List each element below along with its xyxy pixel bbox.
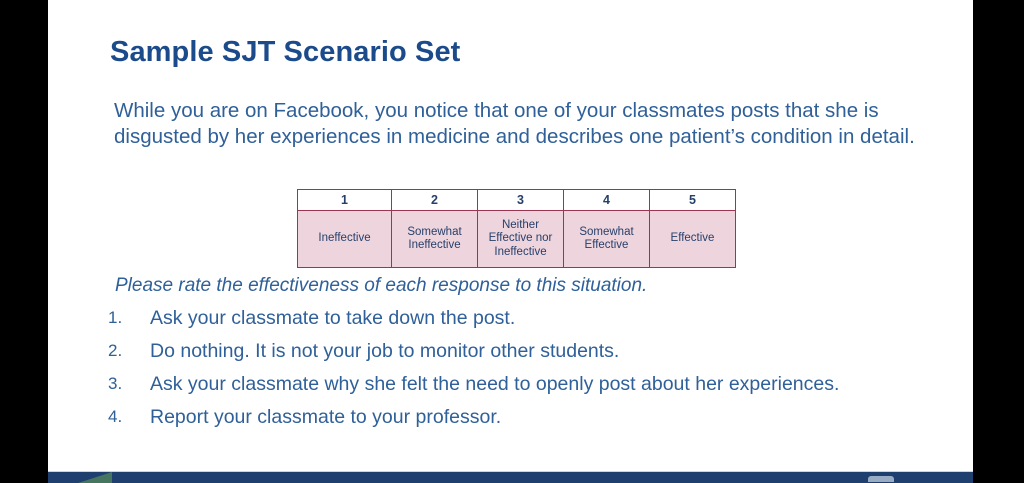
- scale-header-2: 2: [392, 190, 478, 211]
- list-item-number: 3.: [108, 374, 146, 394]
- scale-header-3: 3: [478, 190, 564, 211]
- list-item-label: Do nothing. It is not your job to monito…: [150, 340, 619, 363]
- scale-label-5: Effective: [650, 211, 736, 268]
- screenshot-viewport: Sample SJT Scenario Set While you are on…: [0, 0, 1024, 483]
- letterbox-bar-right: [973, 0, 1024, 483]
- response-options-list: 1. Ask your classmate to take down the p…: [108, 308, 968, 440]
- scenario-paragraph: While you are on Facebook, you notice th…: [114, 98, 919, 150]
- table-row: Ineffective Somewhat Ineffective Neither…: [298, 211, 736, 268]
- list-item-label: Ask your classmate to take down the post…: [150, 307, 515, 330]
- list-item: 4. Report your classmate to your profess…: [108, 407, 968, 440]
- scale-label-3: Neither Effective nor Ineffective: [478, 211, 564, 268]
- footer-green-accent: [78, 472, 112, 483]
- instruction-text: Please rate the effectiveness of each re…: [115, 275, 647, 297]
- list-item: 2. Do nothing. It is not your job to mon…: [108, 341, 968, 374]
- scale-label-2: Somewhat Ineffective: [392, 211, 478, 268]
- list-item-number: 1.: [108, 308, 146, 328]
- scale-header-1: 1: [298, 190, 392, 211]
- list-item-number: 4.: [108, 407, 146, 427]
- presentation-slide: Sample SJT Scenario Set While you are on…: [48, 0, 973, 483]
- list-item-label: Ask your classmate why she felt the need…: [150, 373, 839, 396]
- rating-scale-table: 1 2 3 4 5 Ineffective Somewhat Ineffecti…: [297, 189, 736, 268]
- scale-label-4: Somewhat Effective: [564, 211, 650, 268]
- scale-header-5: 5: [650, 190, 736, 211]
- table-header-row: 1 2 3 4 5: [298, 190, 736, 211]
- list-item-label: Report your classmate to your professor.: [150, 406, 501, 429]
- scale-label-1: Ineffective: [298, 211, 392, 268]
- letterbox-bar-left: [0, 0, 48, 483]
- list-item-number: 2.: [108, 341, 146, 361]
- page-title: Sample SJT Scenario Set: [110, 36, 460, 69]
- footer-logo-badge: [868, 476, 894, 482]
- list-item: 1. Ask your classmate to take down the p…: [108, 308, 968, 341]
- slide-footer-band: [48, 472, 973, 483]
- scale-header-4: 4: [564, 190, 650, 211]
- list-item: 3. Ask your classmate why she felt the n…: [108, 374, 968, 407]
